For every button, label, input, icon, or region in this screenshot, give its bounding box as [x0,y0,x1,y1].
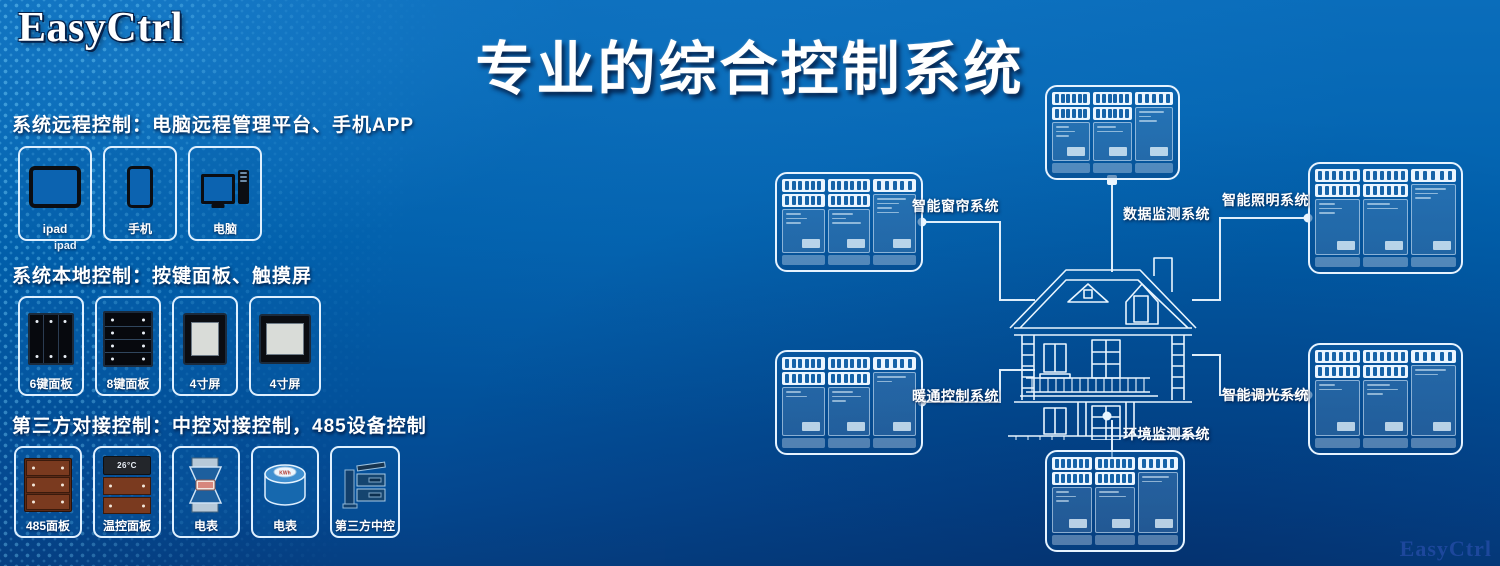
device-card-8key-panel[interactable]: 8键面板 [95,296,161,396]
node-label-data: 数据监测系统 [1123,204,1210,224]
tablet-icon [24,153,86,221]
section-heading-thirdparty: 第三方对接控制：中控对接控制，485设备控制 [12,411,427,438]
phone-icon [109,153,171,221]
device-caption: ipad [43,221,68,236]
poster-canvas: EasyCtrl 专业的综合控制系统 系统远程控制：电脑远程管理平台、手机APP… [0,0,1500,566]
node-label-dimming: 智能调光系统 [1222,385,1309,405]
device-card-6key-panel[interactable]: 6键面板 [18,296,84,396]
device-card-4inch-screen[interactable]: 4寸屏 [172,296,238,396]
thermostat-display-value: 26°C [103,456,151,475]
third-party-controller-icon [336,453,394,518]
svg-text:KWh: KWh [279,471,290,477]
device-caption: 电表 [273,518,297,533]
device-card-thermostat-panel[interactable]: 26°C 温控面板 [93,446,161,538]
section-heading-local: 系统本地控制：按键面板、触摸屏 [12,261,312,288]
four-inch-screen-wide-icon [255,303,315,376]
device-card-energy-meter[interactable]: 电表 [172,446,240,538]
device-card-phone[interactable]: 手机 [103,146,177,241]
device-card-round-meter[interactable]: KWh 电表 [251,446,319,538]
six-key-panel-icon [24,303,78,376]
device-caption: 4寸屏 [270,376,301,391]
module-card-dimming[interactable] [1308,343,1463,455]
device-caption: 温控面板 [103,518,151,533]
node-label-curtain: 智能窗帘系统 [912,196,999,216]
device-caption: 485面板 [26,518,70,533]
node-label-hvac: 暖通控制系统 [912,386,999,406]
device-caption: 4寸屏 [190,376,221,391]
module-card-lighting[interactable] [1308,162,1463,274]
ipad-sub-caption: ipad [54,240,77,252]
device-caption: 手机 [128,221,152,236]
watermark-logo: EasyCtrl [1400,536,1492,562]
device-card-ipad[interactable]: ipad [18,146,92,241]
eight-key-panel-icon [101,303,155,376]
energy-meter-icon [178,453,234,518]
device-caption: 8键面板 [107,376,150,391]
computer-icon [194,153,256,221]
device-card-485-panel[interactable]: 485面板 [14,446,82,538]
house-icon [1000,240,1205,440]
device-card-third-party-controller[interactable]: 第三方中控 [330,446,400,538]
device-card-4inch-screen-wide[interactable]: 4寸屏 [249,296,321,396]
brand-logo: EasyCtrl [18,4,183,52]
device-caption: 电表 [194,518,218,533]
section-heading-remote: 系统远程控制：电脑远程管理平台、手机APP [12,110,414,137]
system-topology-diagram: 智能窗帘系统 数据监测系统 智能照明系统 暖通控制系统 环境监测系统 智能调光系… [700,0,1500,566]
module-card-data[interactable] [1045,85,1180,180]
device-row-local: 6键面板 8键面板 4寸屏 4寸屏 [18,296,321,396]
device-caption: 第三方中控 [335,518,395,533]
device-row-remote: ipad 手机 电脑 [18,146,262,241]
thermostat-panel-icon: 26°C [99,453,155,518]
device-row-thirdparty: 485面板 26°C 温控面板 电表 [14,446,400,538]
module-card-curtain[interactable] [775,172,923,272]
round-meter-icon: KWh [257,453,313,518]
device-caption: 6键面板 [30,376,73,391]
module-card-env[interactable] [1045,450,1185,552]
rs485-panel-icon [20,453,76,518]
device-caption: 电脑 [213,221,237,236]
four-inch-screen-icon [178,303,232,376]
device-card-computer[interactable]: 电脑 [188,146,262,241]
node-label-lighting: 智能照明系统 [1222,190,1309,210]
module-card-hvac[interactable] [775,350,923,455]
